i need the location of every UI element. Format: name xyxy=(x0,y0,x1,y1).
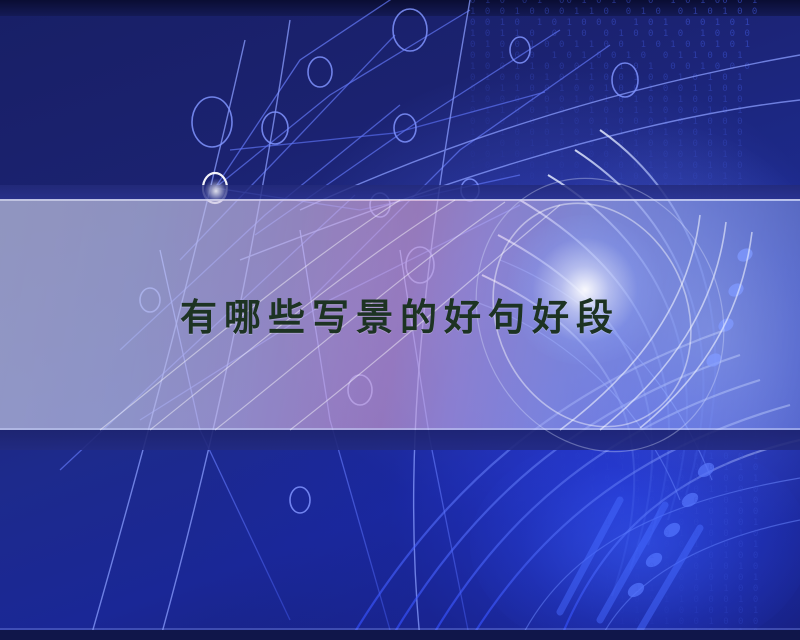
bottom-dark-edge xyxy=(0,630,800,640)
band-top-stripe xyxy=(0,185,800,200)
top-dark-edge xyxy=(0,0,800,16)
title-band-overlay xyxy=(0,200,800,430)
band-bottom-stripe xyxy=(0,430,800,450)
decorative-banner: 0 1 0 0 1 00 1 0 1 0 0 1 0 1 00 0 1 1 0 … xyxy=(0,0,800,640)
